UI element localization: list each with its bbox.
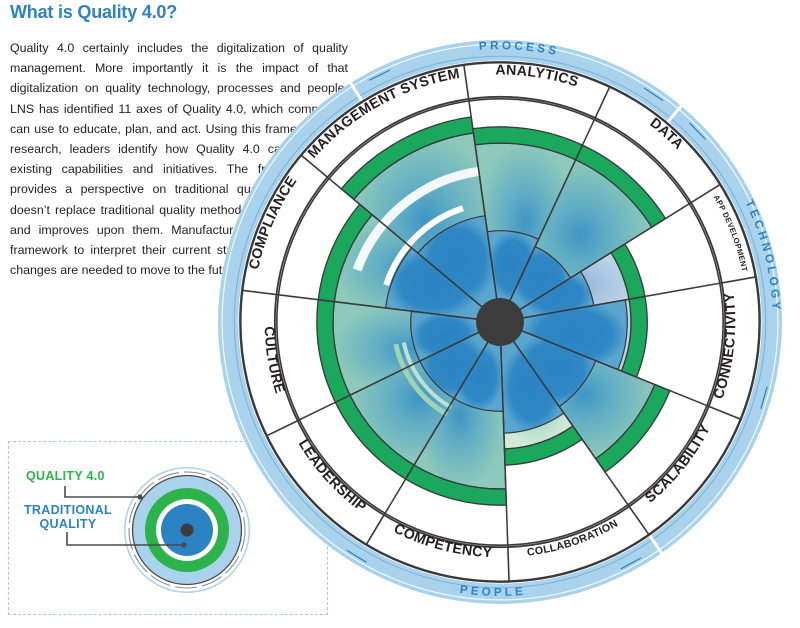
legend-leader-dot-traditional xyxy=(181,542,186,547)
quality40-framework-wheel: ANALYTICSDATAAPP DEVELOPMENTCONNECTIVITY… xyxy=(216,38,784,611)
page-title: What is Quality 4.0? xyxy=(10,2,340,23)
wheel-hub xyxy=(477,299,524,346)
legend-label-quality40: QUALITY 4.0 xyxy=(26,469,105,483)
wheel-svg: ANALYTICSDATAAPP DEVELOPMENTCONNECTIVITY… xyxy=(216,38,784,606)
legend-leader-dot-quality40 xyxy=(137,494,142,499)
legend-label-traditional: TRADITIONAL QUALITY xyxy=(20,503,116,531)
legend-hub xyxy=(181,524,194,537)
legend-leader-quality40 xyxy=(65,486,139,497)
legend-label-traditional-line2: QUALITY xyxy=(40,517,97,531)
legend-label-traditional-line1: TRADITIONAL xyxy=(24,503,112,517)
